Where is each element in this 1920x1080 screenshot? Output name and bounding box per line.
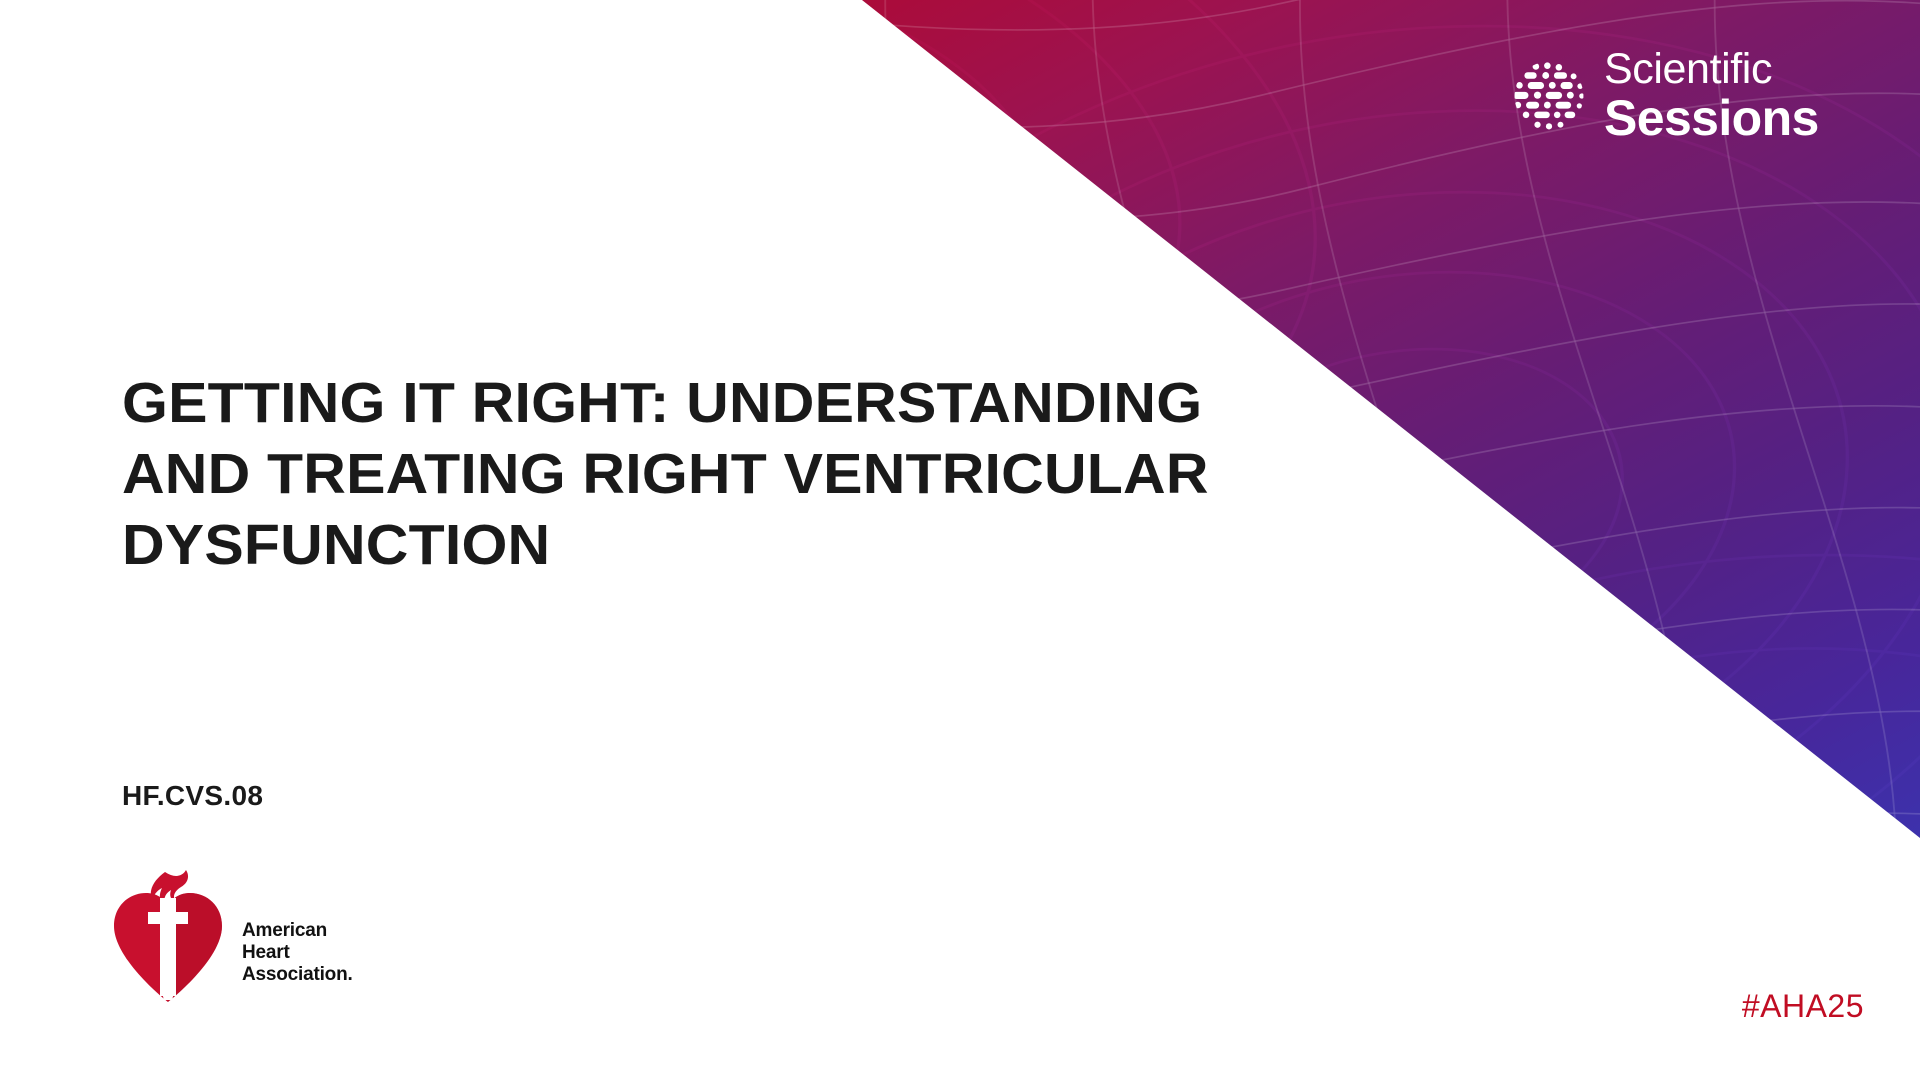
ss-line-scientific: Scientific: [1604, 48, 1819, 91]
scientific-sessions-logo: Scientific Sessions: [1508, 48, 1819, 143]
title-line-3: DYSFUNCTION: [122, 510, 1405, 581]
aha-wordmark: American Heart Association.: [242, 920, 353, 986]
aha-line-american: American: [242, 920, 353, 942]
title-line-2: AND TREATING RIGHT VENTRICULAR: [122, 439, 1405, 510]
heart-torch-icon: [108, 868, 228, 1008]
session-title: GETTING IT RIGHT: UNDERSTANDING AND TREA…: [122, 368, 1362, 581]
session-code: HF.CVS.08: [122, 780, 263, 812]
aha-line-association: Association.: [242, 964, 353, 986]
presentation-slide: Scientific Sessions GETTING IT RIGHT: UN…: [0, 0, 1920, 1080]
title-line-1: GETTING IT RIGHT: UNDERSTANDING: [122, 368, 1405, 439]
scientific-sessions-wordmark: Scientific Sessions: [1604, 48, 1819, 143]
ss-line-sessions: Sessions: [1604, 93, 1819, 143]
hashtag-aha25: #AHA25: [1742, 988, 1864, 1025]
american-heart-association-logo: American Heart Association.: [108, 868, 353, 1008]
aha-line-heart: Heart: [242, 942, 353, 964]
dotted-globe-icon: [1508, 55, 1590, 137]
